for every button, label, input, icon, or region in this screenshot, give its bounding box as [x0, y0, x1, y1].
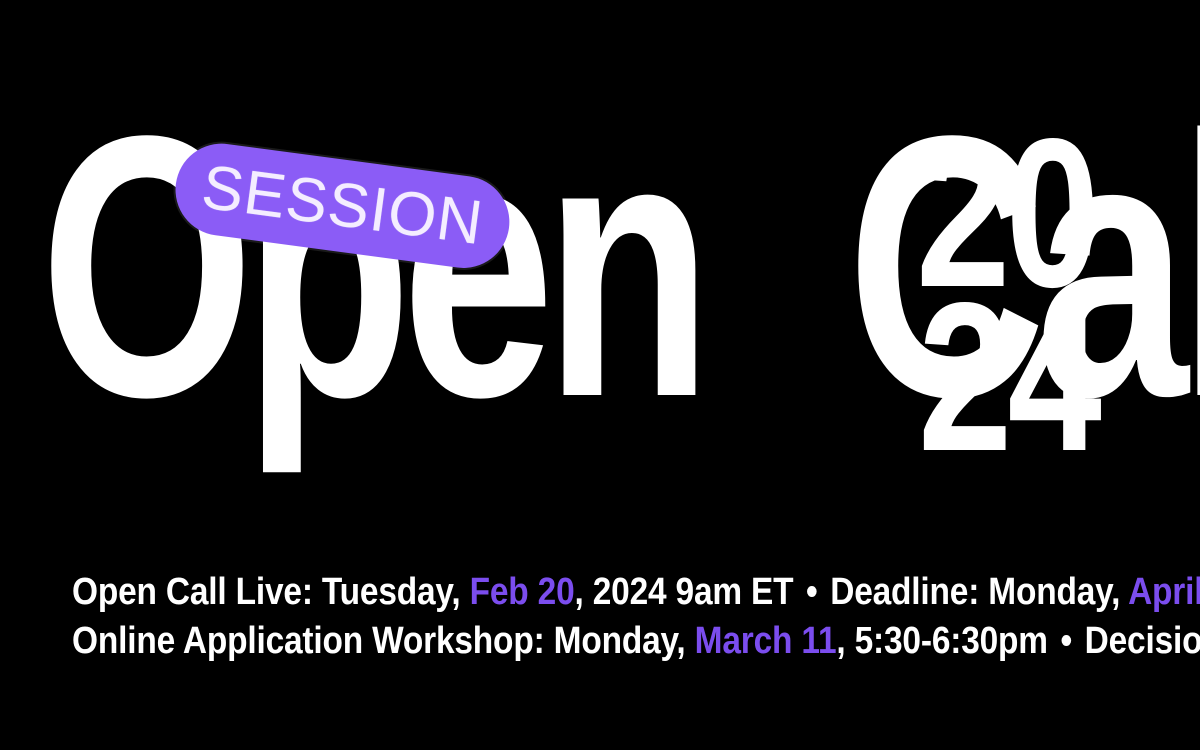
deadline-date: April 1 [1128, 571, 1200, 613]
detail-line-one: Open Call Live: Tuesday, Feb 20, 2024 9a… [72, 568, 1128, 617]
open-call-live-label: Open Call Live: Tuesday, [72, 571, 460, 613]
open-call-live-date: Feb 20 [470, 571, 575, 613]
details-block: Open Call Live: Tuesday, Feb 20, 2024 9a… [0, 568, 1200, 665]
open-call-live-time: , 2024 9am ET [574, 571, 793, 613]
separator-bullet-two: • [1057, 617, 1076, 666]
detail-line-two: Online Application Workshop: Monday, Mar… [72, 617, 1128, 666]
workshop-date: March 11 [695, 620, 837, 662]
workshop-label: Online Application Workshop: Monday, [72, 620, 686, 662]
headline-block: Open Call SESSION 20 24 [0, 0, 1200, 560]
deadline-label: Deadline: Monday, [830, 571, 1120, 613]
decisions-label: Decisions Announced: [1085, 620, 1200, 662]
year-stack: 20 24 [916, 128, 1142, 461]
workshop-time: , 5:30-6:30pm [836, 620, 1047, 662]
separator-bullet-one: • [803, 568, 822, 617]
year-bottom-digits: 24 [918, 292, 1097, 462]
open-call-poster: Open Call SESSION 20 24 Open Call Live: … [0, 0, 1200, 750]
